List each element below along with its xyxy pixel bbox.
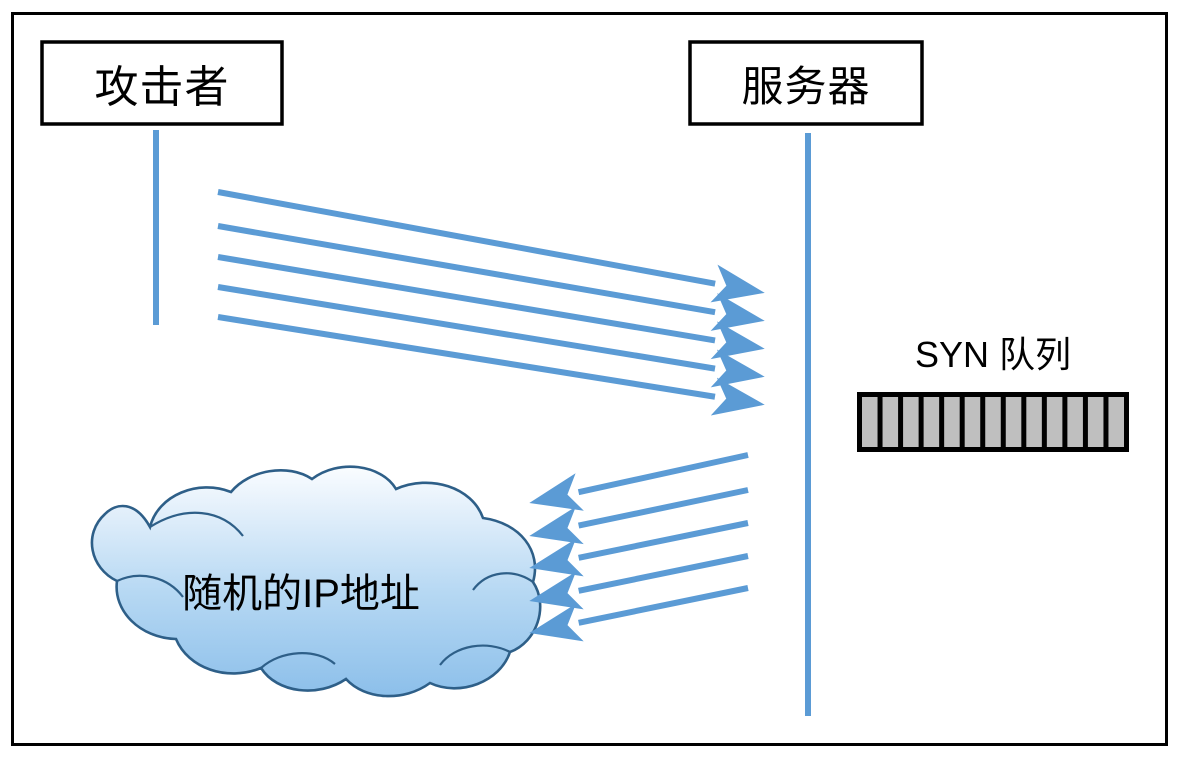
syn-queue-cell	[1088, 397, 1104, 447]
syn-queue-cell	[1108, 397, 1124, 447]
server-box[interactable]	[690, 42, 922, 124]
attacker-box[interactable]	[42, 42, 282, 124]
syn-queue-cell	[924, 397, 940, 447]
syn-ack-reply-arrows-item	[579, 588, 748, 623]
random-ip-cloud[interactable]	[92, 467, 540, 696]
cloud-outline	[92, 467, 540, 696]
syn-queue-cell	[1026, 397, 1042, 447]
syn-queue-cell	[1006, 397, 1022, 447]
syn-queue-cell	[903, 397, 919, 447]
syn-queue-cell	[944, 397, 960, 447]
syn-queue-cell	[883, 397, 899, 447]
syn-queue-cell	[965, 397, 981, 447]
syn-queue-cell	[862, 397, 878, 447]
syn-queue-cell	[985, 397, 1001, 447]
syn-queue[interactable]	[857, 392, 1129, 452]
diagram-canvas: 攻击者 服务器 SYN 队列 随机的IP地址	[0, 0, 1178, 759]
syn-ack-reply-arrows-item	[579, 455, 748, 492]
syn-ack-reply-arrows-item	[579, 556, 748, 591]
syn-queue-cell	[1067, 397, 1083, 447]
diagram-svg	[0, 0, 1178, 759]
syn-queue-cell	[1047, 397, 1063, 447]
syn-ack-reply-arrows-item	[579, 523, 748, 558]
syn-ack-reply-arrows-item	[579, 490, 748, 526]
